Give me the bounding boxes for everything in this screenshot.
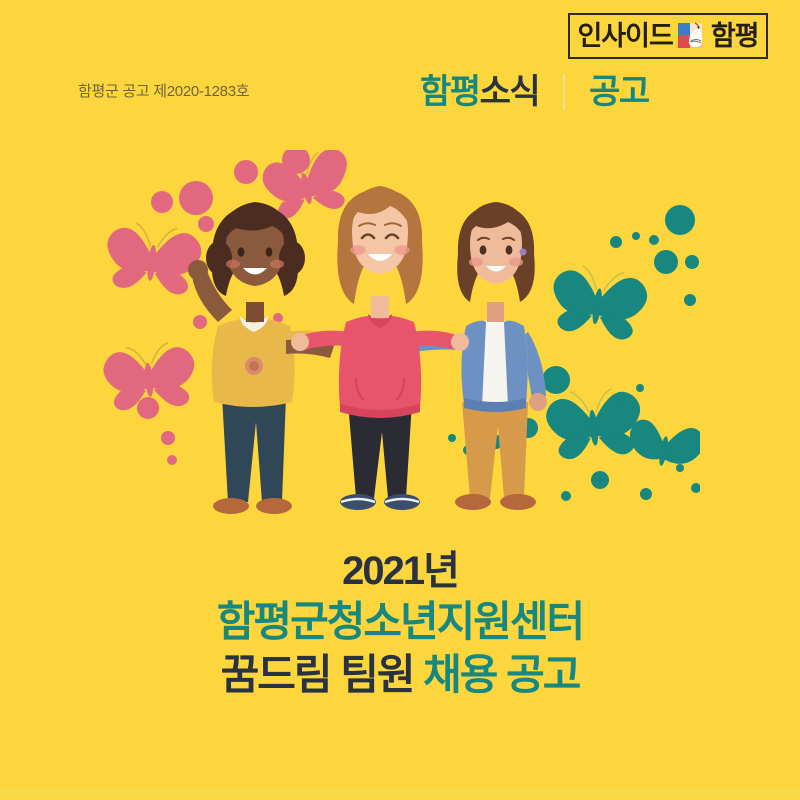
announcement-year: 2021년 xyxy=(0,548,800,594)
poster-canvas: 인사이드 함평 함평군 공고 제2020-1283호 함평소식 공고 xyxy=(0,0,800,800)
header-title-divider xyxy=(563,74,565,110)
announcement-role: 꿈드림 팀원 xyxy=(221,651,414,698)
logo-right-word: 함평 xyxy=(711,23,759,50)
inside-hampyeong-logo[interactable]: 인사이드 함평 xyxy=(568,13,768,59)
header-title-main: 함평소식 xyxy=(420,75,539,109)
three-girls-illustration xyxy=(100,150,700,535)
header-title-category: 공고 xyxy=(589,75,649,109)
announcement-action: 채용 공고 xyxy=(423,651,579,698)
logo-left-word: 인사이드 xyxy=(577,23,672,50)
header-title: 함평소식 공고 xyxy=(420,74,649,110)
header-title-teal-part: 함평 xyxy=(420,73,480,111)
announcement-center-name: 함평군청소년지원센터 xyxy=(0,598,800,647)
document-number: 함평군 공고 제2020-1283호 xyxy=(78,80,249,101)
hampyeong-goose-emblem-icon xyxy=(677,21,707,51)
announcement-title-block: 2021년 함평군청소년지원센터 꿈드림 팀원 채용 공고 xyxy=(0,548,800,700)
announcement-role-line: 꿈드림 팀원 채용 공고 xyxy=(0,651,800,700)
girl-left xyxy=(188,202,336,514)
header-title-dark-part: 소식 xyxy=(480,73,540,111)
bottom-band xyxy=(0,788,800,800)
